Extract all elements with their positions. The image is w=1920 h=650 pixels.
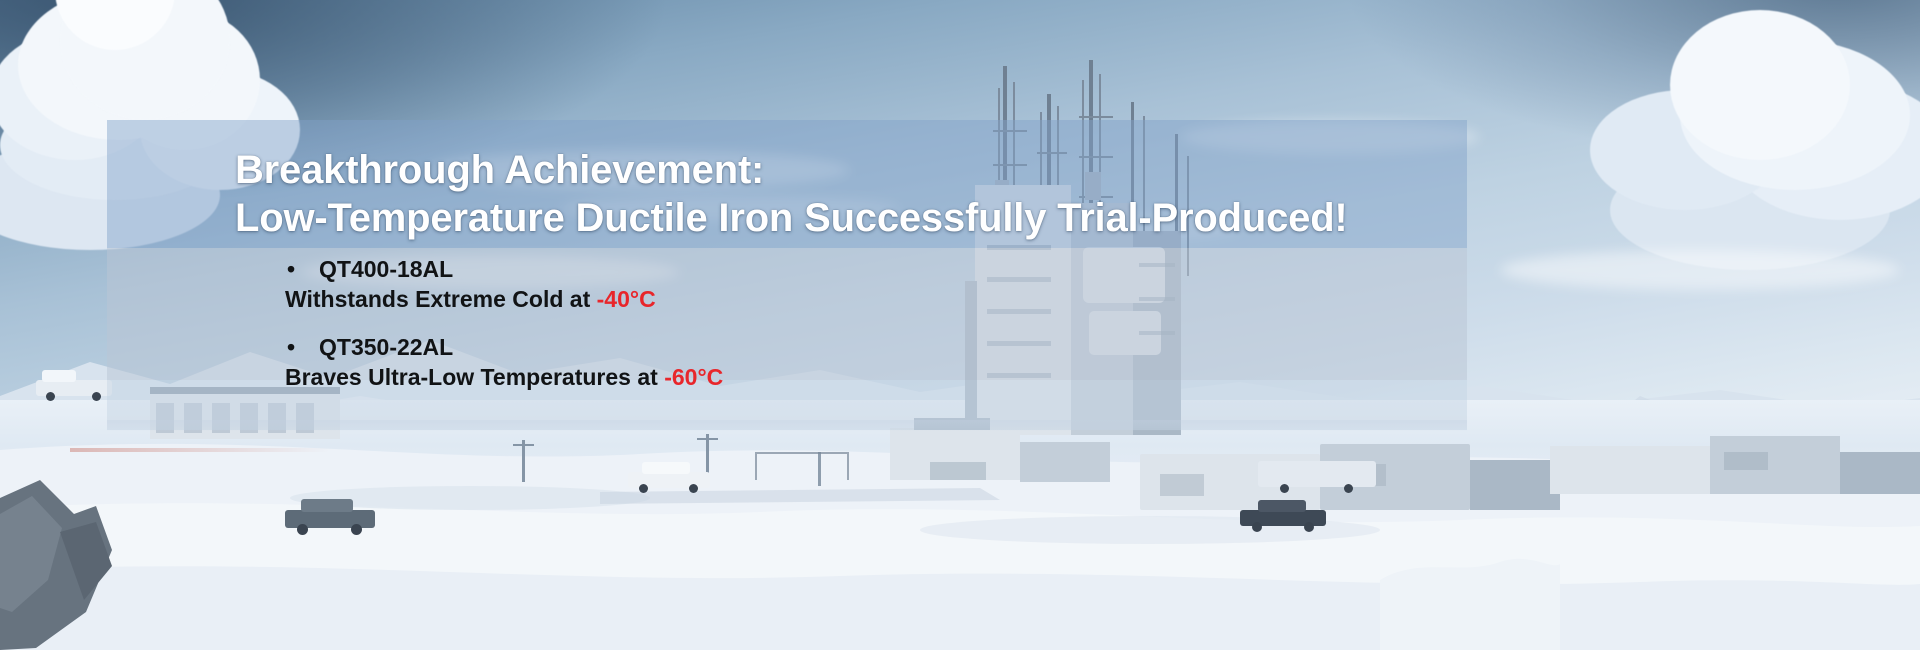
temperature-value: -40°C bbox=[597, 286, 656, 312]
description-text: Withstands Extreme Cold at bbox=[285, 286, 597, 312]
banner-stage: Breakthrough Achievement: Low-Temperatur… bbox=[0, 0, 1920, 650]
vehicle-truck-left bbox=[36, 370, 114, 402]
cloud-cluster-right bbox=[1500, 0, 1920, 290]
vehicle-suv-bottom-left bbox=[285, 498, 377, 536]
feature-item: • QT350-22AL Braves Ultra-Low Temperatur… bbox=[107, 332, 1467, 392]
grade-row: • QT350-22AL bbox=[107, 332, 1467, 362]
bullet-marker-icon: • bbox=[287, 332, 295, 362]
grade-description: Braves Ultra-Low Temperatures at -60°C bbox=[107, 362, 1467, 392]
bullet-marker-icon: • bbox=[287, 254, 295, 284]
snow-drift-right bbox=[1380, 520, 1560, 650]
grade-description: Withstands Extreme Cold at -40°C bbox=[107, 284, 1467, 314]
grade-label: QT350-22AL bbox=[319, 334, 453, 360]
utility-pole bbox=[522, 440, 525, 482]
cloud-wisp bbox=[1500, 250, 1900, 290]
vehicle-suv-center bbox=[628, 460, 712, 494]
grade-label: QT400-18AL bbox=[319, 256, 453, 282]
fence-line bbox=[755, 452, 849, 480]
rock-outcrop bbox=[0, 462, 120, 650]
snow-track-marks bbox=[70, 448, 330, 452]
content-overlay-panel: Breakthrough Achievement: Low-Temperatur… bbox=[107, 120, 1467, 430]
utility-pole-crossbar bbox=[513, 444, 534, 446]
feature-item: • QT400-18AL Withstands Extreme Cold at … bbox=[107, 254, 1467, 314]
banner-headline: Breakthrough Achievement: Low-Temperatur… bbox=[235, 146, 1555, 242]
vehicle-trailer-right bbox=[1258, 455, 1378, 495]
grade-row: • QT400-18AL bbox=[107, 254, 1467, 284]
utility-pole-crossbar bbox=[697, 438, 718, 440]
description-text: Braves Ultra-Low Temperatures at bbox=[285, 364, 664, 390]
headline-line-2: Low-Temperature Ductile Iron Successfull… bbox=[235, 194, 1555, 242]
vehicle-sedan-bottom-right bbox=[1240, 498, 1328, 534]
temperature-value: -60°C bbox=[664, 364, 723, 390]
feature-list: • QT400-18AL Withstands Extreme Cold at … bbox=[107, 254, 1467, 410]
panel-bottom-fade bbox=[107, 420, 1467, 432]
cloud-puff bbox=[1670, 10, 1850, 160]
far-right-train-sheds bbox=[1550, 430, 1920, 510]
headline-line-1: Breakthrough Achievement: bbox=[235, 148, 764, 192]
